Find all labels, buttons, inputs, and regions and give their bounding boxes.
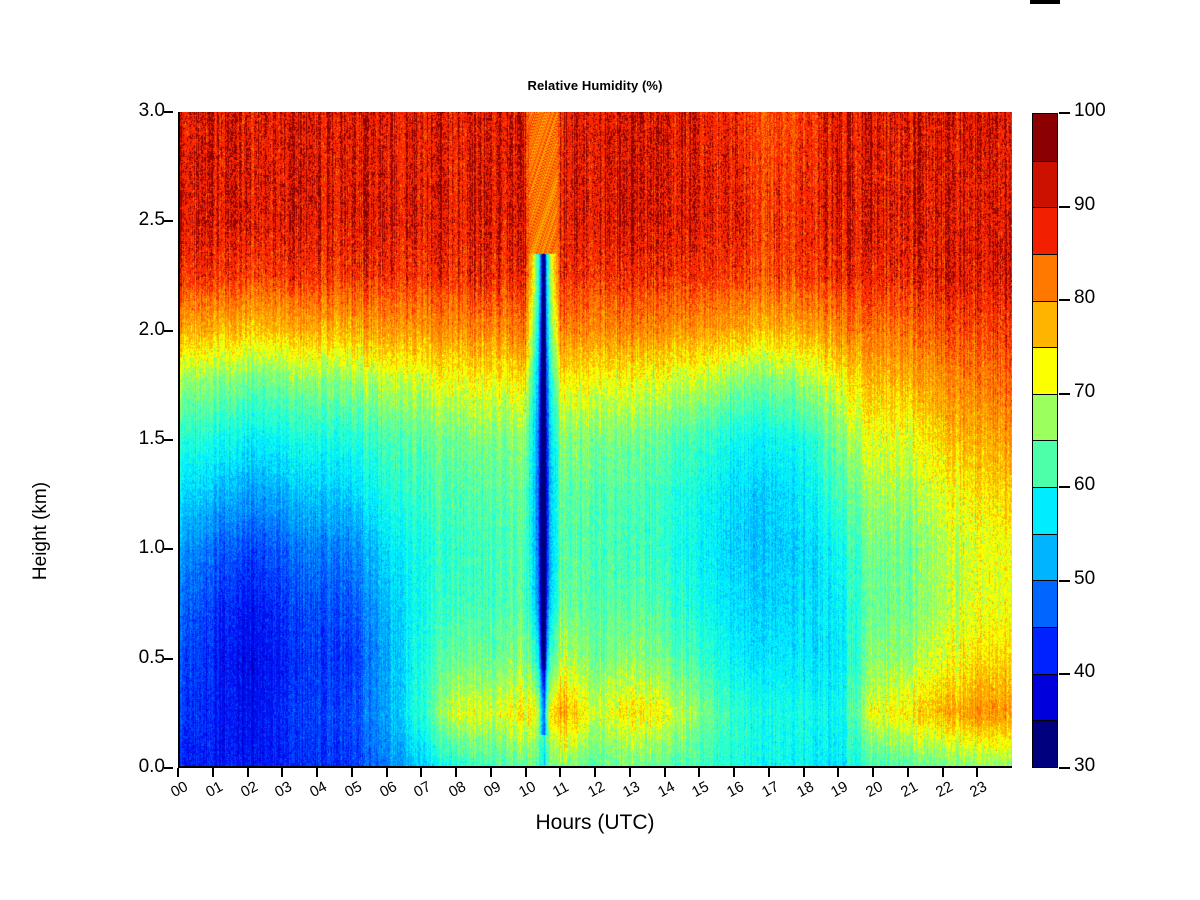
x-tick-mark	[351, 768, 353, 777]
x-tick-label: 22	[932, 778, 955, 801]
x-tick-mark	[420, 768, 422, 777]
colorbar-tick-label: 100	[1074, 100, 1106, 122]
y-tick-label: 3.0	[105, 100, 165, 122]
x-tick-label: 09	[481, 778, 504, 801]
y-tick-label: 0.5	[105, 647, 165, 669]
y-tick-mark	[164, 548, 173, 550]
x-tick-mark	[976, 768, 978, 777]
x-tick-label: 10	[515, 778, 538, 801]
colorbar-block	[1033, 674, 1057, 721]
colorbar-tick-mark	[1059, 299, 1070, 301]
y-tick-label: 2.5	[105, 209, 165, 231]
y-tick-mark	[164, 439, 173, 441]
colorbar-block	[1033, 487, 1057, 534]
colorbar-tick-mark	[1059, 673, 1070, 675]
x-tick-mark	[247, 768, 249, 777]
x-tick-label: 23	[967, 778, 990, 801]
x-tick-label: 19	[828, 778, 851, 801]
x-tick-label: 12	[585, 778, 608, 801]
x-tick-mark	[872, 768, 874, 777]
y-tick-mark	[164, 767, 173, 769]
y-tick-mark	[164, 330, 173, 332]
x-tick-label: 01	[203, 778, 226, 801]
colorbar-tick-label: 60	[1074, 474, 1095, 496]
x-tick-mark	[664, 768, 666, 777]
y-tick-mark	[164, 658, 173, 660]
relative-humidity-heatmap	[178, 112, 1012, 768]
y-tick-mark	[164, 220, 173, 222]
x-tick-label: 14	[654, 778, 677, 801]
plot-title: Relative Humidity (%)	[178, 78, 1012, 93]
colorbar-tick-label: 80	[1074, 287, 1095, 309]
y-axis-title: Height (km)	[30, 466, 52, 596]
x-tick-mark	[942, 768, 944, 777]
x-tick-label: 04	[307, 778, 330, 801]
x-tick-mark	[525, 768, 527, 777]
x-tick-label: 16	[724, 778, 747, 801]
colorbar-block	[1033, 394, 1057, 441]
x-tick-mark	[559, 768, 561, 777]
y-tick-label: 1.5	[105, 428, 165, 450]
colorbar-tick-mark	[1059, 393, 1070, 395]
colorbar-tick-mark	[1059, 112, 1070, 114]
x-tick-mark	[629, 768, 631, 777]
x-tick-mark	[490, 768, 492, 777]
x-tick-label: 18	[793, 778, 816, 801]
x-tick-label: 17	[759, 778, 782, 801]
x-tick-mark	[594, 768, 596, 777]
y-axis-ticks: 0.00.51.01.52.02.53.0	[95, 0, 165, 900]
x-tick-mark	[733, 768, 735, 777]
colorbar-block	[1033, 301, 1057, 348]
x-tick-mark	[698, 768, 700, 777]
x-tick-mark	[837, 768, 839, 777]
x-tick-label: 21	[898, 778, 921, 801]
colorbar-block	[1033, 161, 1057, 208]
x-tick-label: 05	[342, 778, 365, 801]
colorbar-tick-label: 90	[1074, 194, 1095, 216]
colorbar-block	[1033, 254, 1057, 301]
x-tick-label: 08	[446, 778, 469, 801]
window-chrome-fragment	[1030, 0, 1060, 4]
colorbar-tick-label: 30	[1074, 755, 1095, 777]
colorbar-tick-mark	[1059, 486, 1070, 488]
x-tick-label: 02	[237, 778, 260, 801]
x-tick-label: 15	[689, 778, 712, 801]
x-tick-label: 11	[550, 778, 572, 800]
y-tick-mark	[164, 111, 173, 113]
x-tick-mark	[386, 768, 388, 777]
x-tick-mark	[281, 768, 283, 777]
colorbar-block	[1033, 627, 1057, 674]
colorbar-block	[1033, 720, 1057, 767]
colorbar	[1032, 113, 1058, 768]
x-tick-label: 03	[272, 778, 295, 801]
figure-canvas: Relative Humidity (%) 0.00.51.01.52.02.5…	[0, 0, 1200, 900]
x-tick-label: 13	[620, 778, 643, 801]
colorbar-block	[1033, 347, 1057, 394]
colorbar-tick-mark	[1059, 580, 1070, 582]
colorbar-tick-label: 40	[1074, 661, 1095, 683]
x-axis-title: Hours (UTC)	[178, 811, 1012, 835]
y-tick-label: 1.0	[105, 537, 165, 559]
colorbar-tick-mark	[1059, 206, 1070, 208]
colorbar-block	[1033, 580, 1057, 627]
colorbar-tick-label: 50	[1074, 568, 1095, 590]
x-tick-mark	[455, 768, 457, 777]
x-tick-label: 20	[863, 778, 886, 801]
y-tick-label: 2.0	[105, 319, 165, 341]
colorbar-block	[1033, 534, 1057, 581]
colorbar-block	[1033, 114, 1057, 161]
colorbar-block	[1033, 440, 1057, 487]
x-tick-label: 00	[168, 778, 191, 801]
colorbar-block	[1033, 207, 1057, 254]
y-tick-label: 0.0	[105, 756, 165, 778]
x-tick-mark	[316, 768, 318, 777]
colorbar-tick-mark	[1059, 767, 1070, 769]
x-tick-mark	[177, 768, 179, 777]
x-tick-mark	[212, 768, 214, 777]
x-tick-label: 07	[411, 778, 434, 801]
x-tick-mark	[768, 768, 770, 777]
colorbar-tick-label: 70	[1074, 381, 1095, 403]
x-tick-mark	[907, 768, 909, 777]
x-tick-label: 06	[376, 778, 399, 801]
x-tick-mark	[803, 768, 805, 777]
